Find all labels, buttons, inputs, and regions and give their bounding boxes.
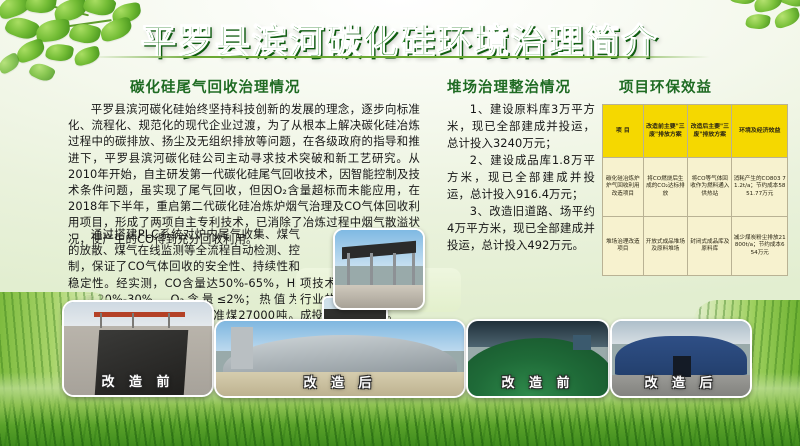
table-cell-project: 堆场治理改造项目 xyxy=(603,217,644,276)
table-cell-after: 封闭式成品库及原料库 xyxy=(688,217,732,276)
photo-tarped-coal-pile-before: 改 造 前 xyxy=(466,319,610,398)
table-row: 堆场治理改造项目 开放式成品堆场及原料堆场 封闭式成品库及原料库 减少煤炭粉尘排… xyxy=(603,217,788,276)
environmental-benefit-table: 项 目 改造前主要"三废"排放方案 改造后主要"三废"排放方案 环境及经济效益 … xyxy=(602,104,788,276)
section-heading-benefit: 项目环保效益 xyxy=(619,76,712,97)
yard-item-list: 1、建设原料库3万平方米，现已全部建成并投运，总计投入3240万元； 2、建设成… xyxy=(447,101,595,254)
table-cell-after: 将CO等气体回收作为燃料通入供热站 xyxy=(688,158,732,217)
photo-caption: 改 造 前 xyxy=(468,372,608,391)
photo-caption: 改 造 前 xyxy=(64,371,212,390)
yard-item-1: 1、建设原料库3万平方米，现已全部建成并投运，总计投入3240万元； xyxy=(447,101,595,152)
section-heading-yard: 堆场治理整治情况 xyxy=(447,76,571,97)
left-paragraph-1-text: 平罗县滨河碳化硅始终坚持科技创新的发展的理念，逐步向标准化、流程化、规范化的现代… xyxy=(68,101,420,247)
table-cell-project: 碳化硅冶炼炉炉气回收利用改造项目 xyxy=(603,158,644,217)
table-cell-before: 将CO燃烧后生成的CO₂达标排放 xyxy=(643,158,687,217)
title-divider xyxy=(88,56,710,58)
photo-caption: 改 造 后 xyxy=(216,372,464,391)
table-header-row: 项 目 改造前主要"三废"排放方案 改造后主要"三废"排放方案 环境及经济效益 xyxy=(603,105,788,158)
table-cell-benefit: 消耗产生的CO803 71.2t/a；节约成本5851.77万元 xyxy=(732,158,788,217)
photo-open-yard-before: 改 造 前 xyxy=(62,300,214,397)
poster-canvas: 平罗县滨河碳化硅环境治理简介 碳化硅尾气回收治理情况 堆场治理整治情况 项目环保… xyxy=(0,0,800,446)
photo-covered-conveyor-after: 改 造 后 xyxy=(214,319,466,398)
section-heading-tailgas: 碳化硅尾气回收治理情况 xyxy=(130,76,301,97)
table-cell-benefit: 减少煤炭粉尘排放21800t/a；节约成本654万元 xyxy=(732,217,788,276)
left-paragraph-1: 平罗县滨河碳化硅始终坚持科技创新的发展的理念，逐步向标准化、流程化、规范化的现代… xyxy=(68,101,420,247)
table-cell-before: 开放式成品堆场及原料堆场 xyxy=(643,217,687,276)
table-header-cell-project: 项 目 xyxy=(603,105,644,158)
photo-gas-recovery-equipment xyxy=(333,228,425,310)
yard-item-3: 3、改造旧道路、场平约4万平方米，现已全部建成并投运，总计投入492万元。 xyxy=(447,203,595,254)
table-row: 碳化硅冶炼炉炉气回收利用改造项目 将CO燃烧后生成的CO₂达标排放 将CO等气体… xyxy=(603,158,788,217)
yard-item-2: 2、建设成品库1.8万平方米，现已全部建成并投运，总计投入916.4万元； xyxy=(447,152,595,203)
photo-caption: 改 造 后 xyxy=(612,372,750,391)
table-header-cell-benefit: 环境及经济效益 xyxy=(732,105,788,158)
table-header-cell-before: 改造前主要"三废"排放方案 xyxy=(643,105,687,158)
table-header-cell-after: 改造后主要"三废"排放方案 xyxy=(688,105,732,158)
photo-enclosed-warehouse-after: 改 造 后 xyxy=(610,319,752,398)
